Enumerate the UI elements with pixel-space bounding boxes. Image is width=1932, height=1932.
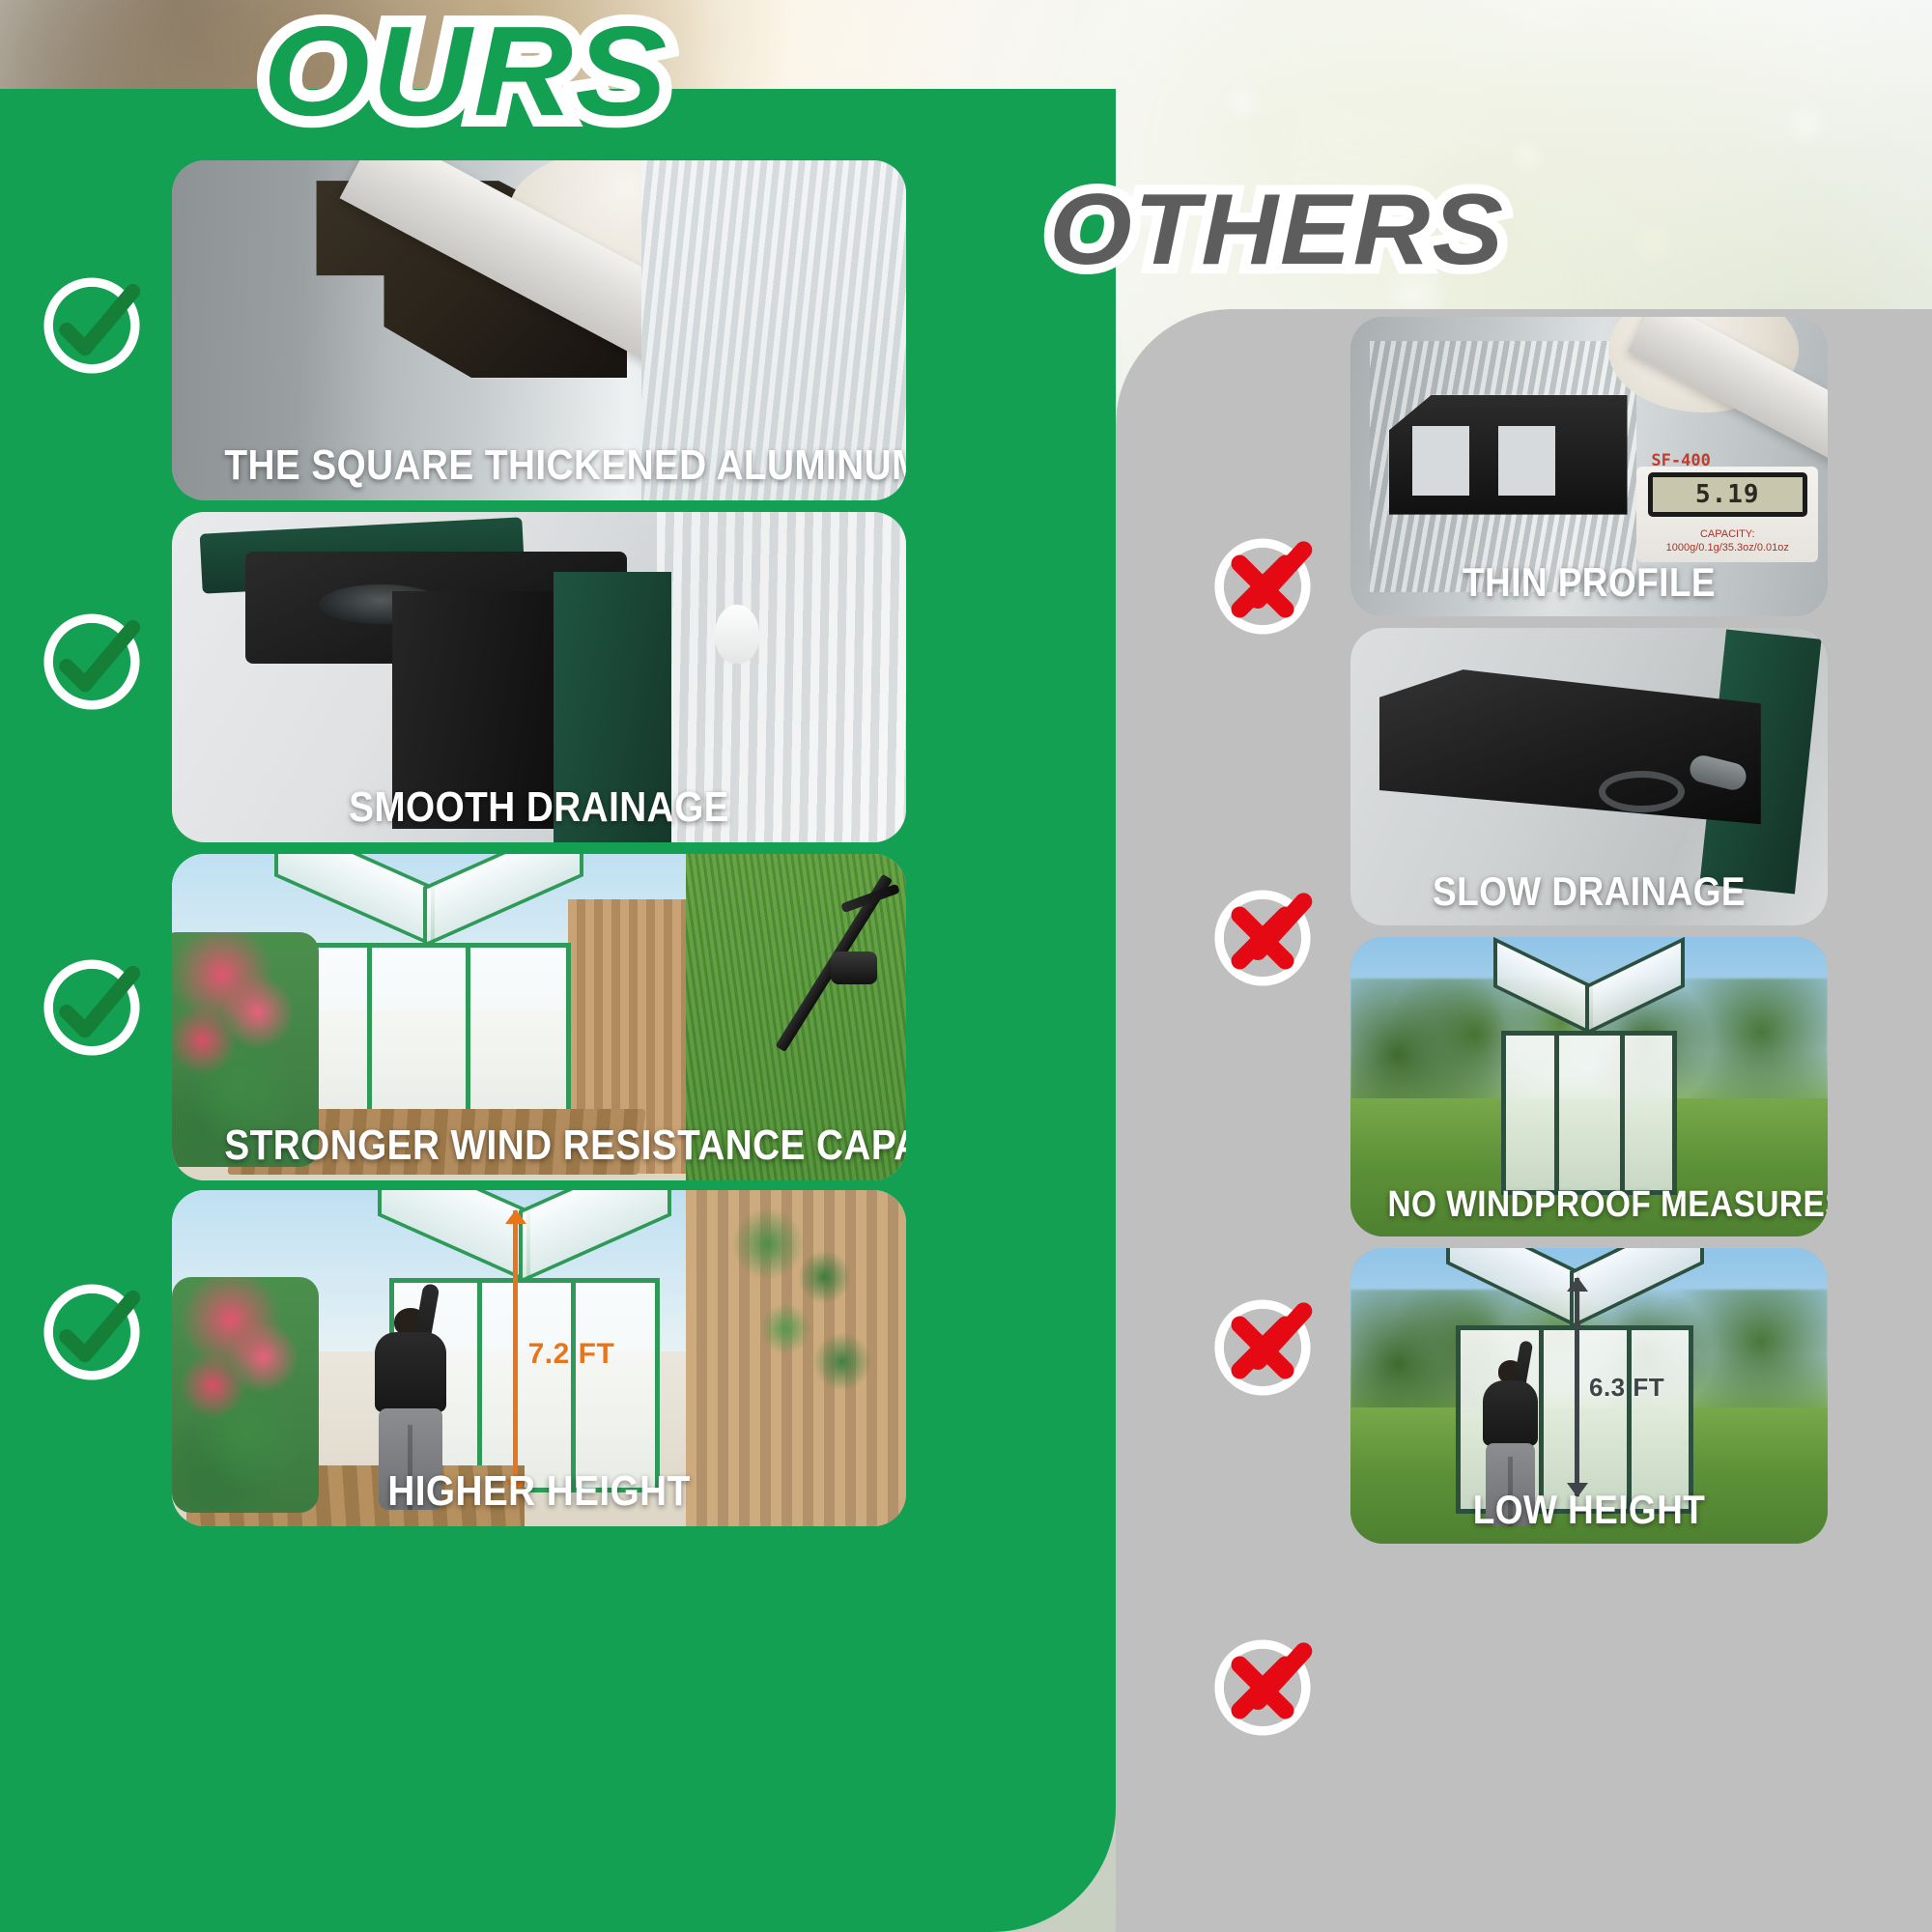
greenhouse-mullion	[466, 943, 470, 1122]
check-circle-icon	[35, 605, 149, 719]
cross-circle-icon	[1206, 1631, 1320, 1745]
scale-reading: 5.19	[1648, 472, 1807, 517]
check-circle-icon	[35, 1275, 149, 1389]
greenhouse-mullion	[1554, 1031, 1559, 1194]
greenhouse-roof-right	[1570, 1248, 1704, 1330]
scale-capacity-line1: CAPACITY:	[747, 389, 802, 401]
scale-reading: 10.72	[677, 317, 871, 370]
scale-capacity-text: CAPACITY: 1000g/0.1g/35.3oz/0.01oz	[1648, 528, 1807, 555]
greenhouse-roof-right	[1585, 937, 1685, 1036]
greenhouse-mullion	[367, 943, 372, 1122]
greenhouse-roof-left	[1493, 937, 1593, 1036]
greenhouse-mullion	[477, 1278, 482, 1492]
card-others-thin-profile: SF-400 5.19 CAPACITY: 1000g/0.1g/35.3oz/…	[1350, 317, 1828, 616]
black-gutter-block	[1379, 669, 1761, 824]
greenhouse-mullion	[1620, 1031, 1625, 1194]
climbing-vine	[715, 1197, 891, 1433]
height-value-label: 7.2 FT	[528, 1338, 615, 1371]
height-measure-arrow	[513, 1210, 518, 1492]
greenhouse-body	[1501, 1031, 1677, 1194]
card-ours-wind: STRONGER WIND RESISTANCE CAPABILITY	[172, 854, 906, 1180]
scale-capacity-line2: 1000g/0.1g/35.3oz/0.01oz	[713, 403, 836, 414]
card-caption: LOW HEIGHT	[1379, 1490, 1800, 1530]
water-drip	[715, 605, 759, 665]
drain-hole	[1599, 771, 1685, 812]
greenhouse-roof-left	[1446, 1248, 1580, 1330]
page-title-others: OTHERS	[1049, 180, 1505, 280]
greenhouse-mullion	[571, 1278, 576, 1492]
check-circle-icon	[35, 951, 149, 1065]
page-title-ours: OURS	[263, 8, 669, 135]
greenhouse-ours	[274, 887, 582, 1122]
card-caption: STRONGER WIND RESISTANCE CAPABILITY	[216, 1124, 863, 1167]
tube-slot	[1412, 426, 1469, 496]
height-measure-arrow	[1575, 1278, 1579, 1496]
card-caption: HIGHER HEIGHT	[216, 1470, 863, 1513]
greenhouse-roof-right	[519, 1190, 671, 1284]
check-circle-icon	[35, 269, 149, 383]
card-caption: NO WINDPROOF MEASURES	[1379, 1186, 1800, 1223]
greenhouse-others	[1493, 985, 1685, 1195]
kitchen-scale: SF-400 10.72 CAPACITY: 1000g/0.1g/35.3oz…	[664, 310, 884, 426]
greenhouse-roof-left	[378, 1190, 530, 1284]
height-value-label: 6.3 FT	[1589, 1373, 1664, 1403]
ground-anchor-head	[831, 952, 877, 984]
card-ours-height: 7.2 FT HIGHER HEIGHT	[172, 1190, 906, 1526]
scale-capacity-text: CAPACITY: 1000g/0.1g/35.3oz/0.01oz	[677, 389, 871, 416]
tube-slot	[1498, 426, 1555, 496]
card-caption: SLOW DRAINAGE	[1379, 871, 1800, 912]
cross-circle-icon	[1206, 1291, 1320, 1405]
kitchen-scale: SF-400 5.19 CAPACITY: 1000g/0.1g/35.3oz/…	[1636, 467, 1818, 562]
scale-model-label: SF-400	[681, 292, 740, 311]
scale-capacity-line1: CAPACITY:	[1700, 528, 1755, 540]
card-others-drainage: SLOW DRAINAGE	[1350, 628, 1828, 925]
greenhouse-body	[287, 943, 571, 1122]
scale-capacity-line2: 1000g/0.1g/35.3oz/0.01oz	[1666, 542, 1789, 554]
card-caption: SMOOTH DRAINAGE	[216, 786, 863, 829]
thin-aluminum-tube	[1389, 395, 1628, 515]
card-others-wind: NO WINDPROOF MEASURES	[1350, 937, 1828, 1236]
person-torso	[1483, 1380, 1538, 1447]
card-caption: THE SQUARE THICKENED ALUMINUM ALLOY FRAM…	[216, 444, 863, 487]
card-caption: THIN PROFILE	[1379, 562, 1800, 603]
cross-circle-icon	[1206, 529, 1320, 643]
card-ours-frame: SF-400 10.72 CAPACITY: 1000g/0.1g/35.3oz…	[172, 160, 906, 500]
cross-circle-icon	[1206, 881, 1320, 995]
person-torso	[375, 1332, 446, 1413]
scale-model-label: SF-400	[1651, 451, 1710, 470]
card-ours-drainage: SMOOTH DRAINAGE	[172, 512, 906, 842]
card-others-height: 6.3 FT LOW HEIGHT	[1350, 1248, 1828, 1544]
